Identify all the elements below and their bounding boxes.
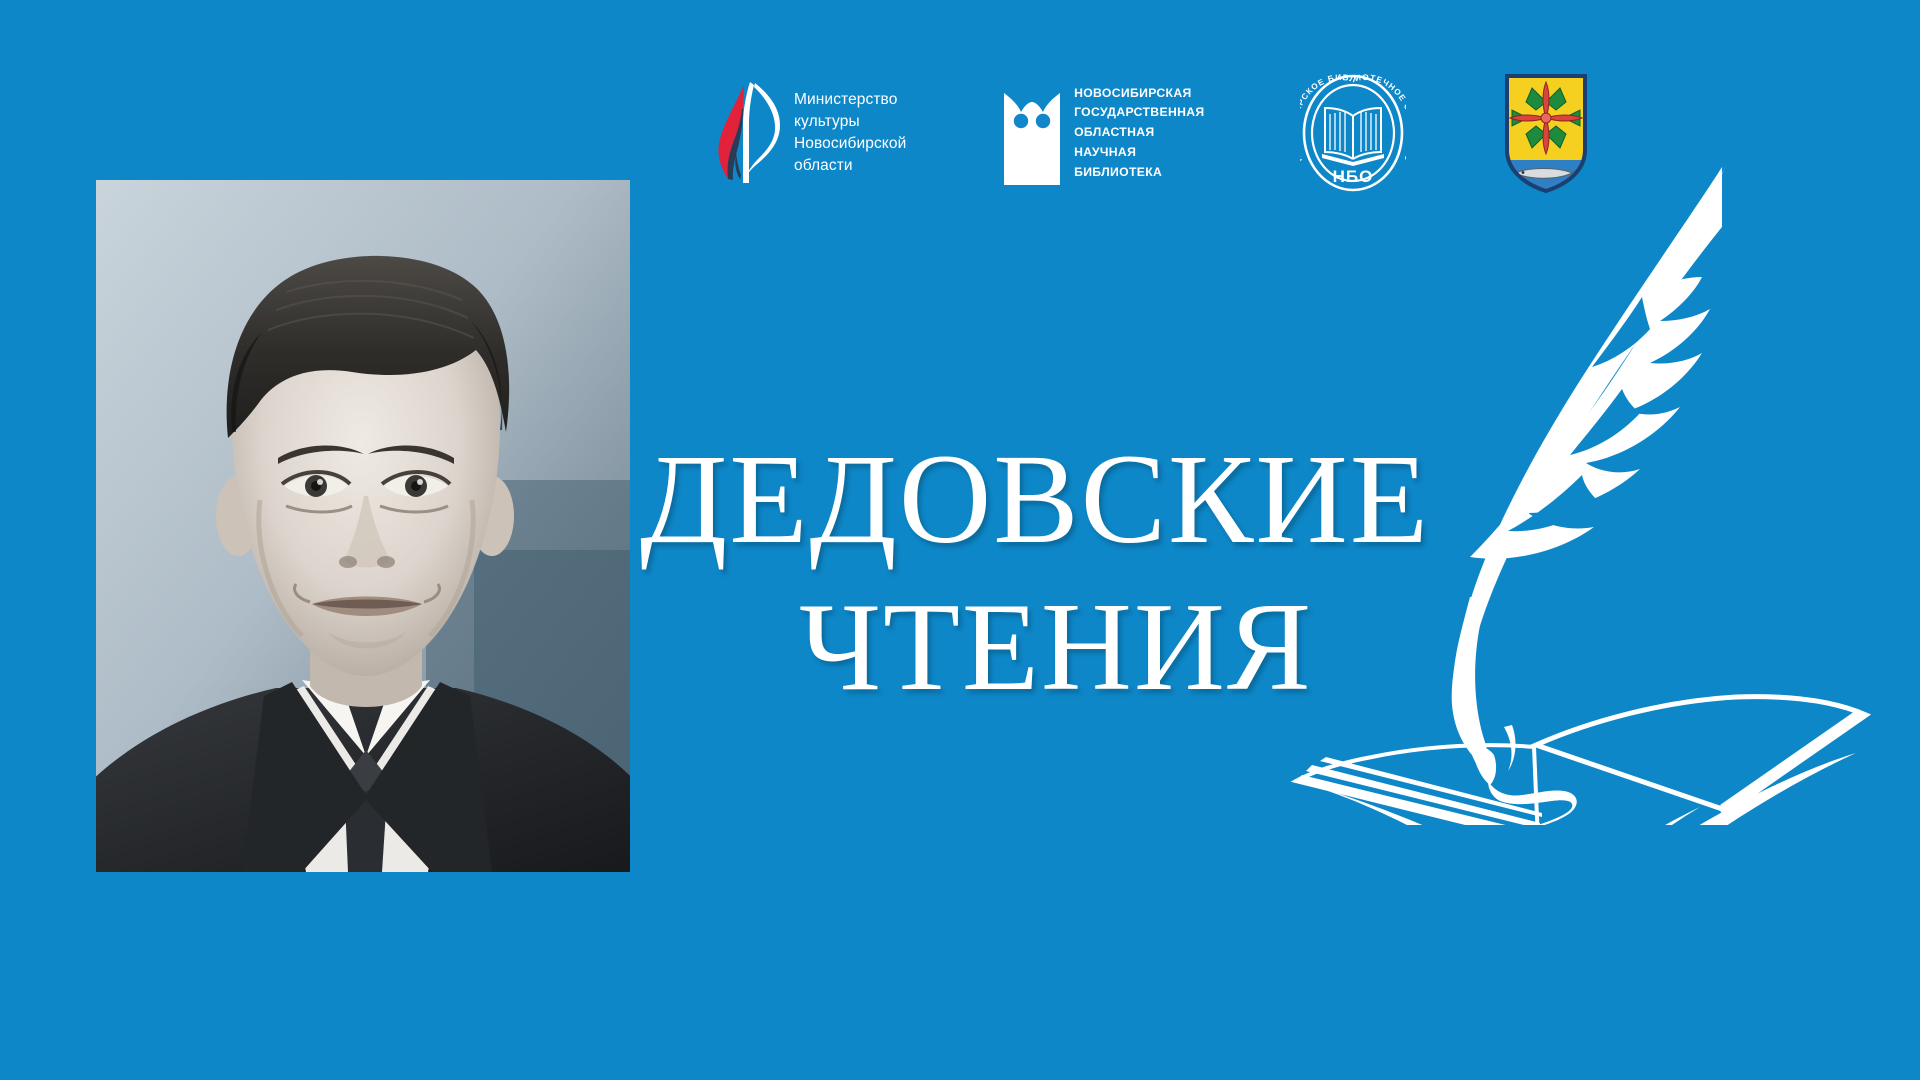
owl-icon [1002,79,1062,187]
poster-canvas: Министерство культуры Новосибирской обла… [0,0,1920,1080]
logo-ngonb-library: НОВОСИБИРСКАЯ ГОСУДАРСТВЕННАЯ ОБЛАСТНАЯ … [1002,79,1204,187]
logo-ngonb-line-1: НОВОСИБИРСКАЯ [1074,84,1204,104]
logo-ngonb-line-3: ОБЛАСТНАЯ [1074,123,1204,143]
logo-ngonb-line-2: ГОСУДАРСТВЕННАЯ [1074,103,1204,123]
portrait-photo [96,180,630,872]
logo-ministry-line-3: Новосибирской [794,133,906,155]
logo-ministry-line-4: области [794,155,906,177]
flame-emblem-icon [710,79,784,187]
logo-ministry-of-culture: Министерство культуры Новосибирской обла… [710,79,906,187]
logo-ministry-text: Министерство культуры Новосибирской обла… [794,89,906,177]
logo-ministry-line-1: Министерство [794,89,906,111]
quill-and-open-book-emblem [1290,145,1920,825]
logo-ministry-line-2: культуры [794,111,906,133]
logo-ngonb-text: НОВОСИБИРСКАЯ ГОСУДАРСТВЕННАЯ ОБЛАСТНАЯ … [1074,84,1204,183]
logo-ngonb-line-5: БИБЛИОТЕКА [1074,163,1204,183]
logo-ngonb-line-4: НАУЧНАЯ [1074,143,1204,163]
